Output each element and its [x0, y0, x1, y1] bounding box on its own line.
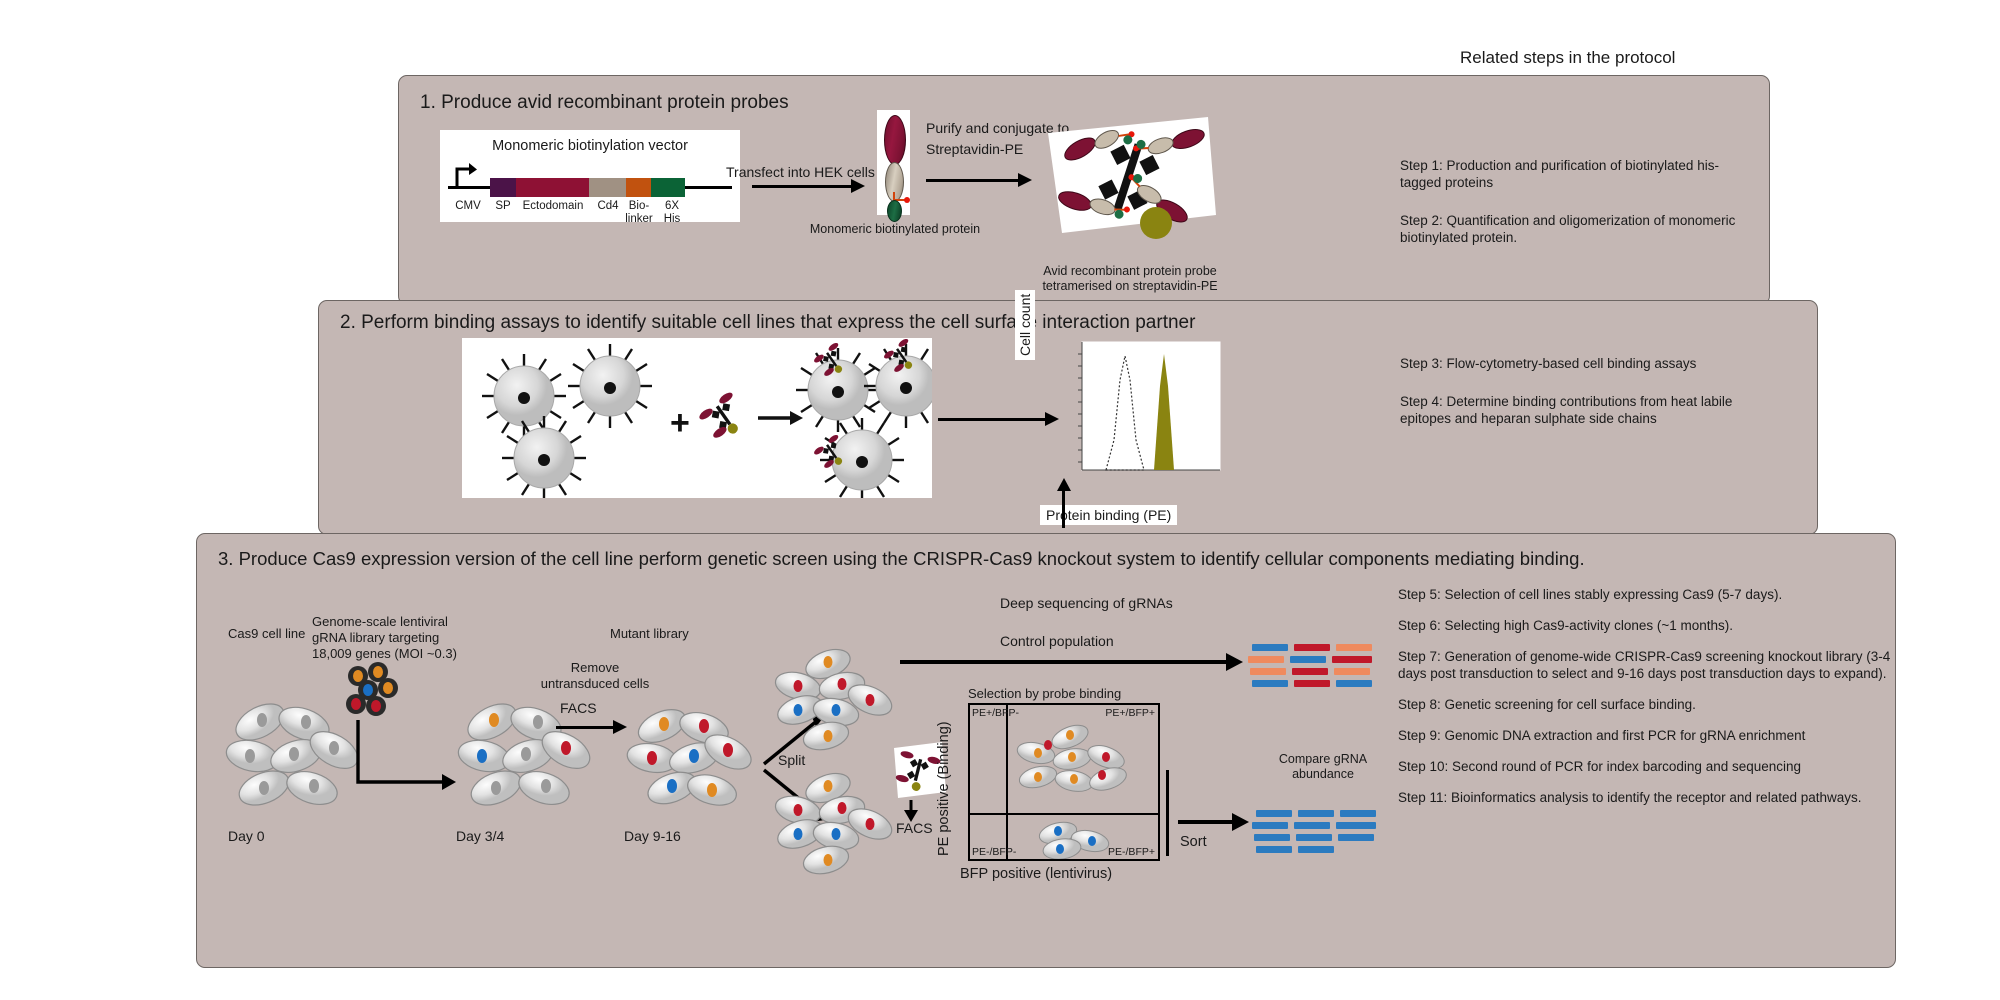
label-selection-by-probe-binding: Selection by probe binding — [968, 686, 1121, 701]
gene-segment-cd4 — [589, 178, 626, 197]
facs2-down-arrow — [902, 800, 920, 822]
step-1-text: Step 1: Production and purification of b… — [1400, 157, 1750, 191]
label-day-9-16: Day 9-16 — [624, 828, 681, 844]
label-sort: Sort — [1180, 834, 1207, 850]
panel-2-step-list: Step 3: Flow-cytometry-based cell bindin… — [1400, 355, 1760, 448]
probe-caption-line1: Avid recombinant protein probe — [1010, 264, 1250, 279]
binding-to-histogram-arrow-head — [1045, 412, 1059, 426]
histogram-up-arrow-line — [1062, 490, 1065, 528]
label-cas9-cell-line: Cas9 cell line — [228, 626, 305, 642]
quadrant-vertical-divider — [1006, 705, 1008, 859]
label-facs-1: FACS — [560, 700, 597, 716]
sort-arrow-head — [1232, 813, 1249, 831]
gene-segment-sp — [490, 178, 516, 197]
label-grna-library: Genome-scale lentiviral gRNA library tar… — [312, 614, 457, 662]
control-population-arrow-head — [1226, 653, 1243, 671]
control-population-arrow-line — [900, 660, 1230, 664]
step-8-text: Step 8: Genetic screening for cell surfa… — [1398, 696, 1908, 713]
step-10-text: Step 10: Second round of PCR for index b… — [1398, 758, 1908, 775]
label-deep-sequencing: Deep sequencing of gRNAs — [1000, 595, 1173, 611]
panel-3-title: 3. Produce Cas9 expression version of th… — [218, 548, 1585, 570]
diagram-canvas: Related steps in the protocol 1. Produce… — [0, 0, 2000, 1000]
related-steps-header: Related steps in the protocol — [1460, 48, 1675, 68]
flow-cytometry-histogram — [1070, 340, 1222, 492]
quadrant-label-pe-neg-bfp-neg: PE-/BFP- — [972, 846, 1016, 858]
purify-arrow-head — [1018, 173, 1032, 187]
gene-label-bio-linker: Bio- linker — [620, 200, 658, 226]
gene-segment-6x-his — [651, 178, 685, 197]
cell-clump-selection-population — [770, 772, 900, 884]
quadrant-lower-cells — [1032, 821, 1128, 859]
vector-card-title: Monomeric biotinylation vector — [455, 138, 725, 154]
step-5-text: Step 5: Selection of cell lines stably e… — [1398, 586, 1908, 603]
transfect-label: Transfect into HEK cells — [726, 164, 875, 180]
panel-1-step-list: Step 1: Production and purification of b… — [1400, 157, 1750, 267]
purify-arrow-line — [926, 179, 1021, 182]
histogram-x-axis-label: Protein binding (PE) — [1040, 505, 1177, 525]
quadrant-horizontal-divider — [970, 813, 1158, 815]
label-remove-untransduced: Remove untransduced cells — [530, 660, 660, 692]
step-11-text: Step 11: Bioinformatics analysis to iden… — [1398, 789, 1908, 806]
gene-label-ectodomain: Ectodomain — [518, 200, 588, 213]
quadrant-y-axis-label: PE positive (Binding) — [936, 721, 952, 856]
step-7-text: Step 7: Generation of genome-wide CRISPR… — [1398, 648, 1908, 682]
quadrant-label-pe-pos-bfp-pos: PE+/BFP+ — [1105, 707, 1155, 719]
panel-1-title: 1. Produce avid recombinant protein prob… — [420, 92, 789, 114]
transfect-arrow-head — [851, 179, 865, 193]
gene-segment-ectodomain — [516, 178, 589, 197]
cell-clump-control-population — [770, 648, 900, 760]
sort-arrow-line — [1178, 820, 1236, 824]
gene-segment-bio-linker — [626, 178, 651, 197]
step-9-text: Step 9: Genomic DNA extraction and first… — [1398, 727, 1908, 744]
label-day-0: Day 0 — [228, 828, 265, 844]
label-compare-grna-abundance: Compare gRNA abundance — [1268, 752, 1378, 782]
sort-gate-line — [1166, 770, 1169, 856]
purify-label-line2: Streptavidin-PE — [926, 141, 1023, 157]
step-4-text: Step 4: Determine binding contributions … — [1400, 393, 1760, 427]
sorted-grna-bars — [1256, 810, 1376, 858]
probe-caption-line2: tetramerised on streptavidin-PE — [1010, 279, 1250, 294]
gene-label-cmv: CMV — [450, 200, 486, 213]
binding-to-histogram-arrow-line — [938, 418, 1048, 421]
quadrant-x-axis-label: BFP positive (lentivirus) — [960, 866, 1112, 882]
panel-2-title: 2. Perform binding assays to identify su… — [340, 312, 1195, 334]
binding-assay-cells-illustration: + — [462, 338, 932, 498]
step-3-text: Step 3: Flow-cytometry-based cell bindin… — [1400, 355, 1760, 372]
transfect-arrow-line — [752, 185, 854, 188]
monomer-caption: Monomeric biotinylated protein — [785, 222, 1005, 237]
facs1-arrow-line — [556, 726, 616, 729]
histogram-up-arrow-head — [1056, 478, 1072, 494]
gene-label-6x-his: 6X His — [656, 200, 688, 226]
label-control-population: Control population — [1000, 633, 1114, 649]
svg-text:+: + — [670, 404, 690, 442]
histogram-y-axis-label: Cell count — [1015, 290, 1035, 360]
transduction-elbow-arrow — [352, 720, 462, 810]
control-grna-bars — [1252, 644, 1372, 692]
quadrant-label-pe-pos-bfp-neg: PE+/BFP- — [972, 707, 1019, 719]
facs-quadrant-plot: PE+/BFP- PE+/BFP+ PE-/BFP- PE-/BFP+ — [968, 703, 1160, 861]
label-facs-2: FACS — [896, 820, 933, 836]
avid-probe-tetramer-icon — [1040, 115, 1220, 240]
gene-label-sp: SP — [487, 200, 519, 213]
label-mutant-library: Mutant library — [610, 626, 689, 642]
step-6-text: Step 6: Selecting high Cas9-activity clo… — [1398, 617, 1908, 634]
label-day-3-4: Day 3/4 — [456, 828, 504, 844]
step-2-text: Step 2: Quantification and oligomerizati… — [1400, 212, 1750, 246]
lentivirus-cluster-icon — [340, 660, 410, 720]
cell-clump-day916 — [620, 690, 760, 820]
quadrant-upper-cells — [1014, 723, 1144, 805]
panel-3-step-list: Step 5: Selection of cell lines stably e… — [1398, 586, 1908, 820]
